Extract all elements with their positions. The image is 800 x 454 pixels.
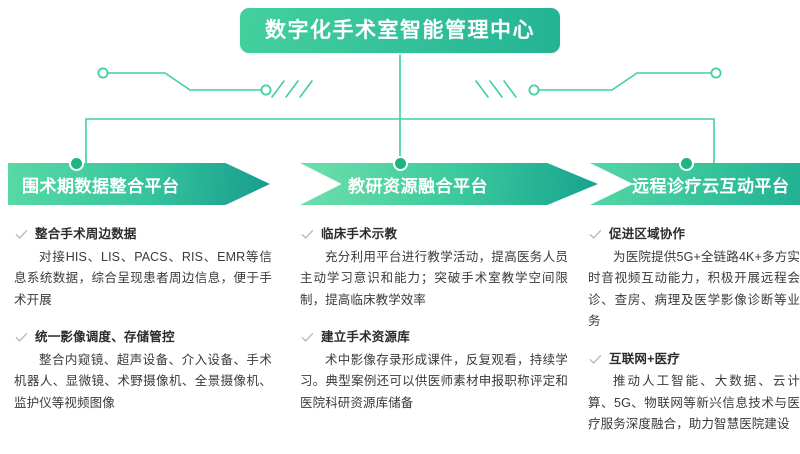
page-title: 数字化手术室智能管理中心 <box>240 8 560 53</box>
feature-body: 推动人工智能、大数据、云计算、5G、物联网等新兴信息技术与医疗服务深度融合，助力… <box>588 371 800 436</box>
endpoint-circle-far-right <box>711 68 720 77</box>
check-icon <box>14 227 29 242</box>
page-title-text: 数字化手术室智能管理中心 <box>265 20 535 41</box>
diagonal-slash-icon <box>476 81 488 97</box>
feature-heading: 促进区域协作 <box>588 226 800 244</box>
endpoint-circle-inner-right <box>529 85 538 94</box>
banner-teaching-research-platform[interactable]: 教研资源融合平台 <box>300 163 598 205</box>
feature-body: 术中影像存录形成课件，反复观看，持续学习。典型案例还可以供医师素材申报职称评定和… <box>300 350 568 415</box>
connector-line-right <box>538 73 712 90</box>
diagram-canvas: 数字化手术室智能管理中心 围术期数据整合平台 教研资源融合平台 远程诊疗云互动平… <box>0 0 800 429</box>
feature-title: 统一影像调度、存储管控 <box>35 329 175 347</box>
banner-label: 围术期数据整合平台 <box>22 172 180 197</box>
solid-dot-icon <box>393 156 408 171</box>
diagonal-slash-icon <box>490 81 502 97</box>
feature-column-telemedicine: 促进区域协作 为医院提供5G+全链路4K+多方实时音视频互动能力，积极开展远程会… <box>588 226 800 454</box>
feature-title: 建立手术资源库 <box>321 329 410 347</box>
endpoint-circle-inner-left <box>261 85 270 94</box>
diagonal-slash-icon <box>286 81 298 97</box>
banner-label: 远程诊疗云互动平台 <box>632 172 790 197</box>
feature-item: 互联网+医疗 推动人工智能、大数据、云计算、5G、物联网等新兴信息技术与医疗服务… <box>588 351 800 436</box>
feature-title: 临床手术示教 <box>321 226 397 244</box>
check-icon <box>588 352 603 367</box>
feature-title: 促进区域协作 <box>609 226 685 244</box>
banner-telemedicine-platform[interactable]: 远程诊疗云互动平台 <box>590 163 800 205</box>
feature-heading: 统一影像调度、存储管控 <box>14 329 272 347</box>
check-icon <box>588 227 603 242</box>
feature-column-teaching-research: 临床手术示教 充分利用平台进行教学活动，提高医务人员主动学习意识和能力；突破手术… <box>300 226 568 432</box>
check-icon <box>300 330 315 345</box>
feature-item: 促进区域协作 为医院提供5G+全链路4K+多方实时音视频互动能力，积极开展远程会… <box>588 226 800 333</box>
feature-heading: 整合手术周边数据 <box>14 226 272 244</box>
feature-title: 互联网+医疗 <box>609 351 680 369</box>
feature-body: 对接HIS、LIS、PACS、RIS、EMR等信息系统数据，综合呈现患者周边信息… <box>14 247 272 312</box>
solid-dot-icon <box>679 156 694 171</box>
diagonal-slash-icon <box>504 81 516 97</box>
feature-body: 充分利用平台进行教学活动，提高医务人员主动学习意识和能力；突破手术室教学空间限制… <box>300 247 568 312</box>
check-icon <box>300 227 315 242</box>
solid-dot-icon <box>69 156 84 171</box>
feature-item: 临床手术示教 充分利用平台进行教学活动，提高医务人员主动学习意识和能力；突破手术… <box>300 226 568 311</box>
connector-line-left <box>107 73 262 90</box>
feature-heading: 互联网+医疗 <box>588 351 800 369</box>
feature-item: 整合手术周边数据 对接HIS、LIS、PACS、RIS、EMR等信息系统数据，综… <box>14 226 272 311</box>
diagonal-slash-icon <box>272 81 284 97</box>
feature-heading: 临床手术示教 <box>300 226 568 244</box>
banner-perioperative-platform[interactable]: 围术期数据整合平台 <box>8 163 270 205</box>
feature-body: 为医院提供5G+全链路4K+多方实时音视频互动能力，积极开展远程会诊、查房、病理… <box>588 247 800 333</box>
feature-column-perioperative: 整合手术周边数据 对接HIS、LIS、PACS、RIS、EMR等信息系统数据，综… <box>14 226 272 432</box>
banner-label: 教研资源融合平台 <box>348 172 488 197</box>
feature-title: 整合手术周边数据 <box>35 226 137 244</box>
diagonal-slash-icon <box>300 81 312 97</box>
feature-item: 建立手术资源库 术中影像存录形成课件，反复观看，持续学习。典型案例还可以供医师素… <box>300 329 568 414</box>
feature-heading: 建立手术资源库 <box>300 329 568 347</box>
check-icon <box>14 330 29 345</box>
feature-item: 统一影像调度、存储管控 整合内窥镜、超声设备、介入设备、手术机器人、显微镜、术野… <box>14 329 272 414</box>
endpoint-circle-far-left <box>98 68 107 77</box>
feature-body: 整合内窥镜、超声设备、介入设备、手术机器人、显微镜、术野摄像机、全景摄像机、监护… <box>14 350 272 415</box>
